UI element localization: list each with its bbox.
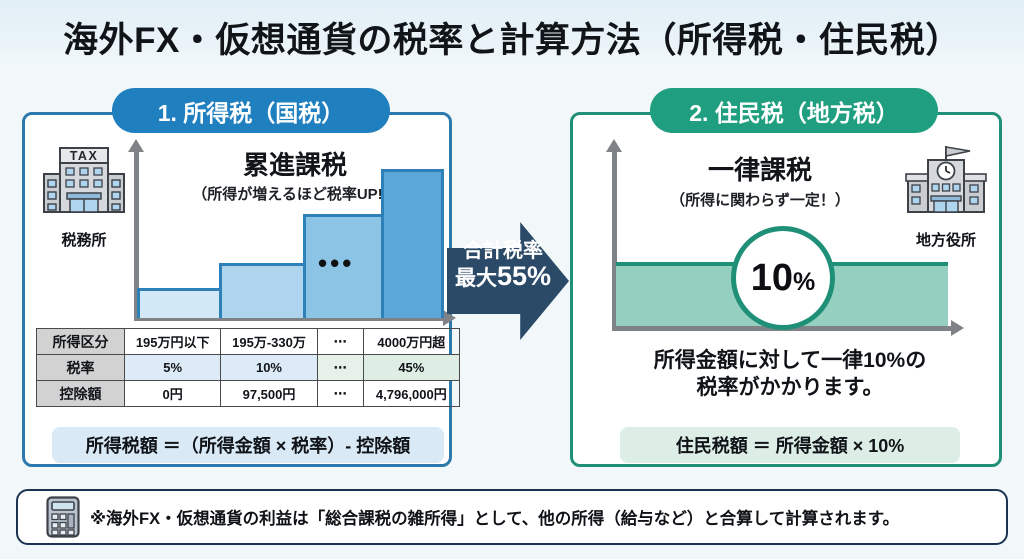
tax-office-icon-group: TAX 税務所 xyxy=(36,144,132,250)
flat-rate-unit: % xyxy=(793,268,815,296)
cell-deduction-4: 4,796,000円 xyxy=(363,381,459,407)
city-hall-caption: 地方役所 xyxy=(898,229,994,250)
resident-tax-note-line1: 所得金額に対して一律10%の xyxy=(600,348,980,375)
footer-note-bar: ※海外FX・仮想通貨の利益は「総合課税の雑所得」として、他の所得（給与など）と合… xyxy=(16,489,1008,545)
bar-bracket-1 xyxy=(137,288,219,318)
table-row: 税率 5% 10% ⋯ 45% xyxy=(37,355,460,381)
cell-bracket-4: 4000万円超 xyxy=(363,329,459,355)
svg-text:TAX: TAX xyxy=(70,149,99,163)
city-hall-icon xyxy=(898,144,994,222)
table-row: 控除額 0円 97,500円 ⋯ 4,796,000円 xyxy=(37,381,460,407)
chart-ellipsis: ••• xyxy=(318,258,354,268)
bar-bracket-2 xyxy=(219,263,303,318)
cell-bracket-3: ⋯ xyxy=(317,329,363,355)
resident-tax-formula: 住民税額 ＝ 所得金額 × 10% xyxy=(620,427,960,463)
total-rate-line2: 最大55% xyxy=(447,262,559,292)
cell-rate-3: ⋯ xyxy=(317,355,363,381)
total-rate-value: 55% xyxy=(497,261,551,291)
table-row: 所得区分 195万円以下 195万-330万 ⋯ 4000万円超 xyxy=(37,329,460,355)
cell-bracket-2: 195万-330万 xyxy=(221,329,317,355)
row-header-rate: 税率 xyxy=(37,355,125,381)
bar-bracket-4 xyxy=(381,169,444,318)
flat-tax-heading: 一律課税 xyxy=(625,150,895,187)
flat-rate-badge: 10% xyxy=(731,226,835,330)
income-tax-rate-table: 所得区分 195万円以下 195万-330万 ⋯ 4000万円超 税率 5% 1… xyxy=(36,328,460,407)
resident-tax-note-line2: 税率がかかります。 xyxy=(600,375,980,402)
tax-office-caption: 税務所 xyxy=(36,229,132,250)
flat-tax-subheading: （所得に関わらず一定！） xyxy=(625,189,895,210)
flat-tax-heading-group: 一律課税 （所得に関わらず一定！） xyxy=(625,150,895,210)
cell-rate-4: 45% xyxy=(363,355,459,381)
calculator-icon xyxy=(46,496,80,538)
cell-deduction-1: 0円 xyxy=(125,381,221,407)
cell-deduction-2: 97,500円 xyxy=(221,381,317,407)
resident-tax-panel-tab: 2. 住民税（地方税） xyxy=(650,88,938,133)
total-rate-prefix: 最大 xyxy=(455,267,497,290)
cell-deduction-3: ⋯ xyxy=(317,381,363,407)
footer-note-text: ※海外FX・仮想通貨の利益は「総合課税の雑所得」として、他の所得（給与など）と合… xyxy=(90,505,899,529)
income-tax-formula: 所得税額 ＝（所得金額 × 税率）- 控除額 xyxy=(52,427,444,463)
flat-rate-value: 10 xyxy=(751,257,793,299)
flat-rate-value-group: 10% xyxy=(751,257,816,300)
cell-rate-1: 5% xyxy=(125,355,221,381)
income-tax-panel-tab: 1. 所得税（国税） xyxy=(112,88,390,133)
infographic-page: 海外FX・仮想通貨の税率と計算方法（所得税・住民税） 1. 所得税（国税） TA… xyxy=(0,0,1024,559)
total-rate-line1: 合計税率 xyxy=(447,240,559,262)
tax-office-icon: TAX xyxy=(36,144,132,222)
resident-tax-note: 所得金額に対して一律10%の 税率がかかります。 xyxy=(600,348,980,402)
row-header-deduction: 控除額 xyxy=(37,381,125,407)
cell-rate-2: 10% xyxy=(221,355,317,381)
page-title: 海外FX・仮想通貨の税率と計算方法（所得税・住民税） xyxy=(0,12,1024,63)
cell-bracket-1: 195万円以下 xyxy=(125,329,221,355)
city-hall-icon-group: 地方役所 xyxy=(898,144,994,250)
total-rate-arrow-label: 合計税率 最大55% xyxy=(447,240,559,292)
row-header-bracket: 所得区分 xyxy=(37,329,125,355)
